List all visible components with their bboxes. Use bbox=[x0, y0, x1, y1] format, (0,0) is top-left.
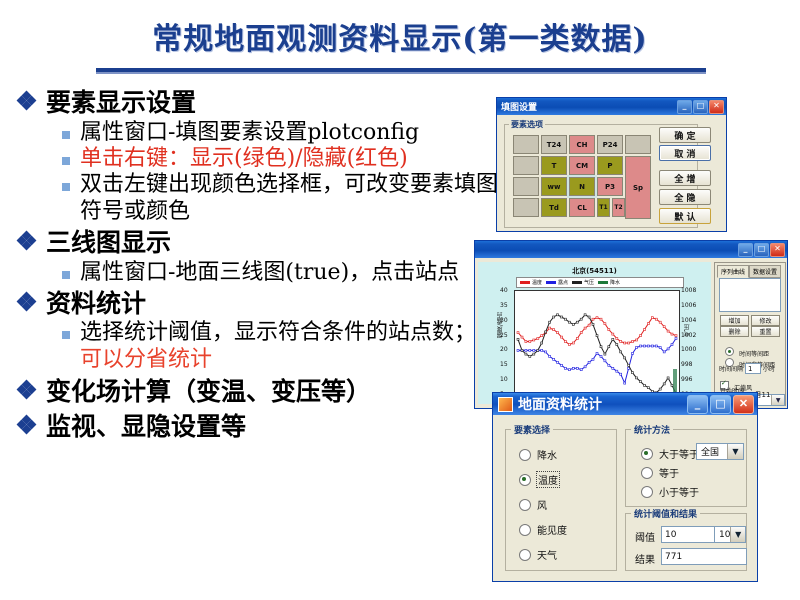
bullet-text: 要素显示设置 bbox=[46, 88, 196, 119]
radio-icon[interactable] bbox=[519, 499, 531, 511]
y-tick-label: 35 bbox=[500, 302, 508, 309]
bullet-text: 单击右键：显示(绿色)/隐藏(红色) bbox=[80, 146, 498, 172]
element-grid-row[interactable]: ww N P3 bbox=[513, 177, 623, 196]
stats-title: 地面资料统计 bbox=[518, 394, 682, 414]
bullet-level2: 属性窗口-地面三线图(true)，点击站点 bbox=[62, 260, 498, 286]
radio-label: 降水 bbox=[537, 447, 557, 462]
maximize-icon[interactable]: □ bbox=[693, 100, 708, 114]
close-icon[interactable]: ✕ bbox=[733, 395, 754, 414]
radio-label: 天气 bbox=[537, 547, 557, 562]
y-tick-label: 15 bbox=[500, 361, 508, 368]
minimize-icon[interactable]: _ bbox=[687, 395, 708, 414]
y2-tick-label: 1000 bbox=[681, 346, 696, 353]
chart-plot-area bbox=[514, 290, 680, 396]
diamond-bullet-icon bbox=[18, 417, 36, 433]
app-icon bbox=[498, 397, 513, 412]
plotconfig-dialog[interactable]: 填图设置 _ □ ✕ 要素选项 T24 CH P24 T CM P ww N P… bbox=[496, 97, 727, 232]
element-select-label: 要素选择 bbox=[511, 423, 553, 436]
y2-tick-label: 996 bbox=[681, 376, 692, 383]
element-cell[interactable]: P3 bbox=[597, 177, 623, 196]
reset-button[interactable]: 重置 bbox=[751, 326, 780, 337]
y2-tick-label: 1002 bbox=[681, 332, 696, 339]
bullet-text: 选择统计阈值，显示符合条件的站点数； bbox=[80, 320, 476, 345]
plotconfig-title: 填图设置 bbox=[501, 100, 677, 113]
minimize-icon[interactable]: _ bbox=[677, 100, 692, 114]
element-cell[interactable]: P24 bbox=[597, 135, 623, 154]
threshold-label: 阈值 bbox=[635, 529, 655, 544]
element-cell[interactable] bbox=[625, 135, 651, 154]
legend-label: 降水 bbox=[610, 279, 620, 286]
y2-tick-label: 1008 bbox=[681, 287, 696, 294]
interval-input[interactable]: 1 bbox=[745, 363, 761, 374]
result-label: 结果 bbox=[635, 551, 655, 566]
ok-button[interactable]: 确 定 bbox=[659, 127, 711, 143]
page-title: 常规地面观测资料显示(第一类数据) bbox=[0, 14, 800, 58]
chevron-down-icon[interactable]: ▼ bbox=[727, 444, 743, 459]
legend-item-pressure: 气压 bbox=[572, 279, 594, 286]
radio-label: 温度 bbox=[537, 472, 559, 487]
radio-label: 风 bbox=[537, 497, 547, 512]
legend-swatch bbox=[520, 281, 530, 284]
close-icon[interactable]: ✕ bbox=[709, 100, 724, 114]
legend-swatch bbox=[572, 281, 582, 284]
series-list-box[interactable] bbox=[719, 278, 781, 312]
radio-equal[interactable]: 等于 bbox=[641, 465, 679, 480]
radio-icon[interactable] bbox=[641, 448, 653, 460]
element-cell[interactable]: ww bbox=[541, 177, 567, 196]
window-controls[interactable]: _ □ ✕ bbox=[687, 395, 754, 414]
y2-tick-label: 998 bbox=[681, 361, 692, 368]
delete-button[interactable]: 删除 bbox=[720, 326, 749, 337]
add-button[interactable]: 增加 bbox=[720, 315, 749, 326]
bullet-text: 资料统计 bbox=[46, 289, 146, 320]
maximize-icon[interactable]: □ bbox=[754, 243, 769, 257]
bullet-level1: 资料统计 bbox=[18, 289, 498, 320]
element-cell-tall[interactable]: Sp bbox=[625, 156, 651, 219]
square-bullet-icon bbox=[62, 271, 70, 279]
element-cell[interactable] bbox=[513, 198, 539, 217]
bullet-text: 变化场计算（变温、变压等） bbox=[46, 377, 371, 408]
bullet-level2: 单击右键：显示(绿色)/隐藏(红色) bbox=[62, 146, 498, 172]
chart-window[interactable]: _ □ ✕ 北京(54511) 温度 露点 气压 降水 bbox=[474, 240, 788, 409]
legend-label: 露点 bbox=[558, 279, 568, 286]
element-cell[interactable]: CM bbox=[569, 156, 595, 175]
plotconfig-titlebar[interactable]: 填图设置 _ □ ✕ bbox=[497, 98, 726, 115]
radio-weather[interactable]: 天气 bbox=[519, 547, 557, 562]
y-tick-label: 20 bbox=[500, 346, 508, 353]
minimize-icon[interactable]: _ bbox=[738, 243, 753, 257]
radio-label: 小于等于 bbox=[659, 484, 699, 499]
chart-titlebar[interactable]: _ □ ✕ bbox=[475, 241, 787, 258]
radio-icon[interactable] bbox=[519, 524, 531, 536]
legend-label: 温度 bbox=[532, 279, 542, 286]
element-grid-row[interactable]: T24 CH P24 bbox=[513, 135, 651, 154]
diamond-bullet-icon bbox=[18, 294, 36, 310]
bullet-text-highlight: 可以分省统计 bbox=[80, 347, 212, 372]
window-controls[interactable]: _ □ ✕ bbox=[738, 243, 785, 257]
bullet-text-composite: 选择统计阈值，显示符合条件的站点数；可以分省统计 bbox=[80, 320, 498, 373]
radio-greater-equal[interactable]: 大于等于 bbox=[641, 446, 699, 461]
threshold-unit-value: 10 bbox=[719, 530, 730, 540]
chart-legend: 温度 露点 气压 降水 bbox=[516, 277, 684, 288]
chart-title: 北京(54511) bbox=[478, 266, 711, 276]
square-bullet-icon bbox=[62, 331, 70, 339]
element-options-label: 要素选项 bbox=[509, 119, 545, 130]
y-tick-label: 40 bbox=[500, 287, 508, 294]
cancel-button[interactable]: 取 消 bbox=[659, 145, 711, 161]
bullet-level1: 变化场计算（变温、变压等） bbox=[18, 377, 498, 408]
element-cell[interactable]: Td bbox=[541, 198, 567, 217]
element-cell-selected[interactable]: N bbox=[569, 177, 595, 196]
interval-unit: 小时 bbox=[763, 364, 775, 373]
element-cell[interactable]: CH bbox=[569, 135, 595, 154]
radio-icon[interactable] bbox=[641, 486, 653, 498]
legend-item-temperature: 温度 bbox=[520, 279, 542, 286]
square-bullet-icon bbox=[62, 183, 70, 191]
element-cell[interactable]: T24 bbox=[541, 135, 567, 154]
radio-icon[interactable] bbox=[519, 474, 531, 486]
radio-label: 等于 bbox=[659, 465, 679, 480]
stats-dialog[interactable]: 地面资料统计 _ □ ✕ 要素选择 降水 温度 风 能见度 天气 统计方法 大于… bbox=[492, 392, 758, 582]
chevron-down-icon[interactable]: ▼ bbox=[730, 527, 745, 542]
element-cell[interactable]: T bbox=[541, 156, 567, 175]
radio-icon[interactable] bbox=[519, 549, 531, 561]
hide-all-button[interactable]: 全 隐 bbox=[659, 189, 711, 205]
radio-wind[interactable]: 风 bbox=[519, 497, 547, 512]
bullet-level1: 要素显示设置 bbox=[18, 88, 498, 119]
bullet-level2: 双击左键出现颜色选择框，可改变要素填图符号或颜色 bbox=[62, 172, 498, 225]
tab-data-settings[interactable]: 数据设置 bbox=[749, 265, 781, 278]
bullet-text: 属性窗口-地面三线图(true)，点击站点 bbox=[80, 260, 498, 286]
bullet-list: 要素显示设置 属性窗口-填图要素设置plotconfig 单击右键：显示(绿色)… bbox=[18, 88, 498, 443]
radio-label: 能见度 bbox=[537, 522, 567, 537]
y-tick-label: 25 bbox=[500, 332, 508, 339]
square-bullet-icon bbox=[62, 157, 70, 165]
threshold-result-label: 统计阈值和结果 bbox=[631, 507, 700, 520]
element-cell[interactable] bbox=[513, 177, 539, 196]
chart-series-svg bbox=[515, 291, 679, 395]
bullet-text: 监视、显隐设置等 bbox=[46, 412, 246, 443]
bullet-text: 双击左键出现颜色选择框，可改变要素填图符号或颜色 bbox=[80, 172, 498, 225]
chart-side-panel[interactable]: 序列曲线 数据设置 增加 修改 删除 重置 时间等间距 时间非等间距 时间间隔 … bbox=[714, 262, 786, 406]
radio-visibility[interactable]: 能见度 bbox=[519, 522, 567, 537]
square-bullet-icon bbox=[62, 131, 70, 139]
bullet-text: 属性窗口-填图要素设置plotconfig bbox=[80, 120, 498, 146]
radio-icon[interactable] bbox=[519, 449, 531, 461]
element-grid-row[interactable]: T CM P bbox=[513, 156, 623, 175]
legend-swatch bbox=[546, 281, 556, 284]
interval-label: 时间间隔 bbox=[719, 364, 743, 373]
element-cell[interactable] bbox=[513, 156, 539, 175]
diamond-bullet-icon bbox=[18, 233, 36, 249]
diamond-bullet-icon bbox=[18, 93, 36, 109]
region-combo[interactable]: 全国 ▼ bbox=[696, 443, 744, 460]
title-divider bbox=[96, 68, 706, 74]
legend-swatch bbox=[598, 281, 608, 284]
element-cell[interactable]: P bbox=[597, 156, 623, 175]
interval-row[interactable]: 时间间隔 1 小时 bbox=[719, 363, 775, 374]
bullet-level2: 选择统计阈值，显示符合条件的站点数；可以分省统计 bbox=[62, 320, 498, 373]
threshold-input[interactable]: 10 bbox=[661, 526, 719, 543]
stat-method-label: 统计方法 bbox=[631, 423, 673, 436]
bullet-level2: 属性窗口-填图要素设置plotconfig bbox=[62, 120, 498, 146]
stats-titlebar[interactable]: 地面资料统计 _ □ ✕ bbox=[493, 393, 757, 415]
threshold-unit-combo[interactable]: 10 ▼ bbox=[714, 526, 746, 543]
tab-series-curve[interactable]: 序列曲线 bbox=[717, 265, 749, 278]
modify-button[interactable]: 修改 bbox=[751, 315, 780, 326]
element-cell[interactable] bbox=[513, 135, 539, 154]
y-tick-label: 10 bbox=[500, 376, 508, 383]
bullet-text: 三线图显示 bbox=[46, 228, 171, 259]
chevron-down-icon[interactable]: ▼ bbox=[771, 395, 784, 405]
radio-temperature[interactable]: 温度 bbox=[519, 472, 559, 487]
element-cell[interactable]: CL bbox=[569, 198, 595, 217]
result-output[interactable]: 771 bbox=[661, 548, 747, 565]
legend-item-dewpoint: 露点 bbox=[546, 279, 568, 286]
y2-tick-label: 1004 bbox=[681, 317, 696, 324]
y2-tick-label: 1006 bbox=[681, 302, 696, 309]
element-cell[interactable]: T1 bbox=[597, 198, 610, 217]
radio-less-equal[interactable]: 小于等于 bbox=[641, 484, 699, 499]
radio-precipitation[interactable]: 降水 bbox=[519, 447, 557, 462]
show-all-button[interactable]: 全 增 bbox=[659, 170, 711, 186]
default-button[interactable]: 默 认 bbox=[659, 208, 711, 224]
window-controls[interactable]: _ □ ✕ bbox=[677, 100, 724, 114]
radio-label: 大于等于 bbox=[659, 446, 699, 461]
bullet-level1: 监视、显隐设置等 bbox=[18, 412, 498, 443]
y-tick-label: 30 bbox=[500, 317, 508, 324]
region-value: 全国 bbox=[701, 445, 719, 458]
legend-item-precipitation: 降水 bbox=[598, 279, 620, 286]
element-grid-row[interactable]: Td CL T1 T2 bbox=[513, 198, 625, 217]
close-icon[interactable]: ✕ bbox=[770, 243, 785, 257]
chart-canvas: 北京(54511) 温度 露点 气压 降水 温度/露点 气压 bbox=[478, 262, 711, 404]
maximize-icon[interactable]: □ bbox=[710, 395, 731, 414]
radio-icon[interactable] bbox=[641, 467, 653, 479]
side-panel-tabs[interactable]: 序列曲线 数据设置 bbox=[717, 265, 785, 278]
bullet-level1: 三线图显示 bbox=[18, 228, 498, 259]
legend-label: 气压 bbox=[584, 279, 594, 286]
element-cell[interactable]: T2 bbox=[612, 198, 625, 217]
diamond-bullet-icon bbox=[18, 382, 36, 398]
